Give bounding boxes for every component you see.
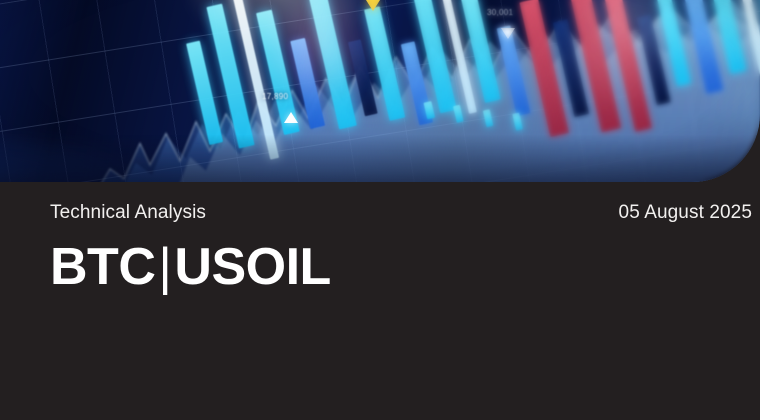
- financial-chart-banner: 17,890 30,001: [0, 0, 760, 182]
- down-triangle-marker: [501, 28, 515, 39]
- page-title: BTC|USOIL: [50, 241, 331, 293]
- price-label-2: 30,001: [487, 8, 513, 17]
- price-label-1: 17,890: [262, 92, 288, 101]
- light-bloom-layer: [0, 0, 760, 182]
- publish-date: 05 August 2025: [619, 202, 752, 224]
- title-panel: Technical Analysis 05 August 2025 BTC|US…: [0, 182, 760, 420]
- title-separator: |: [155, 238, 174, 296]
- title-symbol-primary: BTC: [50, 238, 155, 296]
- chart-artwork: 17,890 30,001: [0, 0, 760, 182]
- title-symbol-secondary: USOIL: [174, 238, 330, 296]
- meta-row: Technical Analysis 05 August 2025: [50, 202, 752, 224]
- up-triangle-marker: [284, 112, 298, 123]
- kicker-label: Technical Analysis: [50, 202, 206, 224]
- gold-triangle-marker: [366, 0, 380, 11]
- technical-analysis-card: 17,890 30,001 Technical Analysis 05 Augu…: [0, 0, 760, 420]
